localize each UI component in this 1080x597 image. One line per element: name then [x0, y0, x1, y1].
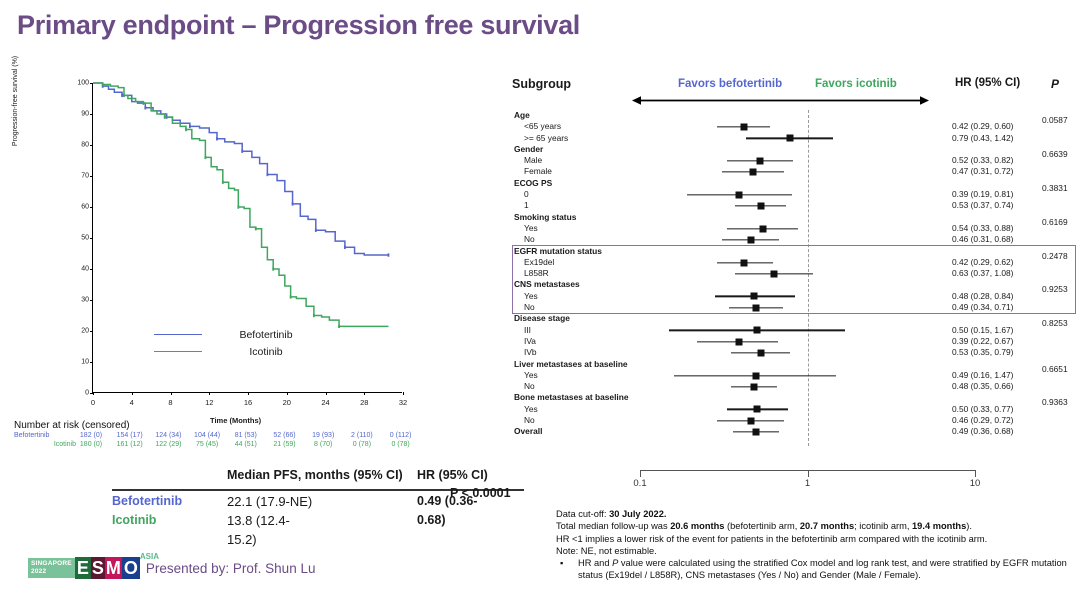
- footnote-line-2: Total median follow-up was 20.6 months (…: [556, 520, 1076, 532]
- censor-mark: [241, 150, 243, 153]
- km-y-tickmark: [90, 176, 93, 177]
- censor-mark: [204, 156, 206, 159]
- forest-header-subgroup: Subgroup: [512, 77, 571, 91]
- forest-header-p: P: [1051, 77, 1059, 91]
- censor-mark: [164, 115, 166, 118]
- forest-row-label: Yes: [524, 404, 538, 415]
- page-title: Primary endpoint – Progression free surv…: [17, 10, 580, 41]
- forest-row-hr: 0.48 (0.35, 0.66): [952, 381, 1013, 392]
- forest-axis-cap: [640, 470, 641, 477]
- forest-row-hr: 0.42 (0.29, 0.62): [952, 257, 1013, 268]
- pfs-header-median: Median PFS, months (95% CI): [227, 468, 403, 482]
- forest-row-label: No: [524, 415, 535, 426]
- censor-mark: [255, 227, 257, 230]
- esmo-logo-s: S: [91, 557, 105, 579]
- risk-table-rows: Befotertinib182 (0)154 (17)124 (34)104 (…: [14, 432, 514, 450]
- legend-label: Befotertinib: [212, 329, 320, 341]
- forest-row: >= 65 years0.79 (0.43, 1.42): [512, 133, 1078, 144]
- pfs-table-row: 15.2): [112, 532, 524, 551]
- forest-row: Ex19del0.42 (0.29, 0.62): [512, 257, 1078, 268]
- forest-row: No0.46 (0.29, 0.72): [512, 415, 1078, 426]
- forest-row: Yes0.48 (0.28, 0.84): [512, 291, 1078, 302]
- forest-row: III0.50 (0.15, 1.67): [512, 325, 1078, 336]
- forest-row: Overall0.49 (0.36, 0.68): [512, 426, 1078, 437]
- fnb-b: value were calculated using the stratifi…: [578, 558, 1067, 580]
- esmo-logo-asia: ASIA: [140, 552, 159, 561]
- footnote-datacutoff-label: Data cut-off:: [556, 509, 606, 519]
- censor-mark: [216, 137, 218, 140]
- censor-mark: [121, 94, 123, 97]
- forest-row: ECOG PS0.3831: [512, 178, 1078, 189]
- forest-row: IVb0.53 (0.35, 0.79): [512, 347, 1078, 358]
- forest-row-hr: 0.52 (0.33, 0.82): [952, 155, 1013, 166]
- footnote-datacutoff-value: 30 July 2022.: [609, 509, 666, 519]
- km-x-tickmark: [209, 392, 210, 395]
- forest-row-label: Male: [524, 155, 542, 166]
- km-y-tickmark: [90, 145, 93, 146]
- forest-header-hr: HR (95% CI): [955, 77, 1020, 89]
- censor-mark: [266, 173, 268, 176]
- forest-row: Smoking status0.6169: [512, 212, 1078, 223]
- footnote-line-1: Data cut-off: 30 July 2022.: [556, 508, 1076, 520]
- censor-mark: [313, 314, 315, 317]
- forest-favors-befotertinib: Favors befotertinib: [678, 78, 782, 90]
- double-arrow-icon: [632, 96, 929, 105]
- forest-row-label: CNS metastases: [514, 279, 580, 290]
- forest-row-hr: 0.47 (0.31, 0.72): [952, 166, 1013, 177]
- forest-row: Liver metastases at baseline0.6651: [512, 359, 1078, 370]
- risk-row-arm: Icotinib: [14, 441, 76, 448]
- pfs-p-value: P < 0.0001: [450, 486, 511, 500]
- forest-row: EGFR mutation status0.2478: [512, 246, 1078, 257]
- median-pfs-table: Median PFS, months (95% CI) HR (95% CI) …: [112, 468, 524, 551]
- forest-row-label: Yes: [524, 291, 538, 302]
- censor-mark: [290, 295, 292, 298]
- footnote-bullet: ▪HR and P value were calculated using th…: [556, 557, 1076, 582]
- forest-row: Gender0.6639: [512, 144, 1078, 155]
- forest-row: Age0.0587: [512, 110, 1078, 121]
- km-x-tickmark: [171, 392, 172, 395]
- forest-row-hr: 0.53 (0.37, 0.74): [952, 200, 1013, 211]
- forest-row-label: 0: [524, 189, 529, 200]
- forest-row: 00.39 (0.19, 0.81): [512, 189, 1078, 200]
- forest-axis: 0.1110: [512, 462, 1078, 492]
- risk-row-arm: Befotertinib: [14, 432, 76, 439]
- forest-favors-icotinib: Favors icotinib: [815, 78, 897, 90]
- forest-row-label: L858R: [524, 268, 549, 279]
- forest-rows: Age0.0587<65 years0.42 (0.29, 0.60)>= 65…: [512, 110, 1078, 438]
- censor-mark: [189, 125, 191, 128]
- forest-row-label: IVb: [524, 347, 537, 358]
- fn2g: ).: [966, 521, 972, 531]
- esmo-logo-o: O: [122, 557, 140, 579]
- forest-row-label: Smoking status: [514, 212, 576, 223]
- forest-row-label: No: [524, 302, 535, 313]
- km-x-tickmark: [364, 392, 365, 395]
- forest-row-hr: 0.49 (0.36, 0.68): [952, 426, 1013, 437]
- forest-row-hr: 0.42 (0.29, 0.60): [952, 121, 1013, 132]
- km-y-tickmark: [90, 362, 93, 363]
- km-y-tickmark: [90, 83, 93, 84]
- forest-row-label: Liver metastases at baseline: [514, 359, 628, 370]
- forest-row-label: EGFR mutation status: [514, 246, 602, 257]
- forest-row-label: <65 years: [524, 121, 561, 132]
- km-y-tickmark: [90, 238, 93, 239]
- esmo-logo-e: E: [75, 557, 91, 579]
- presented-by: Presented by: Prof. Shun Lu: [146, 561, 316, 576]
- footnotes: Data cut-off: 30 July 2022. Total median…: [556, 508, 1076, 582]
- forest-row: <65 years0.42 (0.29, 0.60): [512, 121, 1078, 132]
- km-x-tickmark: [326, 392, 327, 395]
- forest-row-label: No: [524, 381, 535, 392]
- forest-row-label: No: [524, 234, 535, 245]
- forest-row-hr: 0.50 (0.15, 1.67): [952, 325, 1013, 336]
- forest-row-label: Gender: [514, 144, 543, 155]
- forest-row-hr: 0.46 (0.29, 0.72): [952, 415, 1013, 426]
- censor-mark: [222, 181, 224, 184]
- censor-mark: [142, 101, 144, 104]
- km-x-tickmark: [287, 392, 288, 395]
- risk-table-row: Icotinib180 (0)161 (12)122 (29)75 (45)44…: [14, 441, 514, 450]
- forest-row-hr: 0.46 (0.31, 0.68): [952, 234, 1013, 245]
- pfs-row-median: 13.8 (12.4-: [227, 513, 290, 528]
- forest-row-hr: 0.39 (0.22, 0.67): [952, 336, 1013, 347]
- esmo-logo: E S M O ASIA: [75, 557, 140, 579]
- forest-row-hr: 0.50 (0.33, 0.77): [952, 404, 1013, 415]
- km-x-tickmark: [93, 392, 94, 395]
- legend-swatch-befotertinib: [154, 334, 202, 336]
- fn2b: 20.6 months: [670, 521, 724, 531]
- censor-mark: [315, 229, 317, 232]
- km-y-axis-label: Progression-free survival (%): [12, 16, 19, 186]
- forest-row-hr: 0.79 (0.43, 1.42): [952, 133, 1013, 144]
- km-chart: Progression-free survival (%) 0102030405…: [14, 68, 434, 418]
- fnb-a: HR and: [578, 558, 612, 568]
- risk-table-title: Number at risk (censored): [14, 420, 514, 431]
- forest-axis-tick: 0.1: [633, 478, 646, 489]
- pfs-header-hr: HR (95% CI): [417, 468, 488, 482]
- forest-row-label: ECOG PS: [514, 178, 552, 189]
- esmo-logo-m: M: [105, 557, 122, 579]
- forest-row: No0.49 (0.34, 0.71): [512, 302, 1078, 313]
- pfs-row-arm: Icotinib: [112, 513, 156, 527]
- censor-mark: [123, 94, 125, 97]
- bullet-icon: ▪: [560, 557, 563, 569]
- km-legend: Befotertinib Icotinib: [154, 326, 320, 360]
- km-y-tickmark: [90, 300, 93, 301]
- congress-year: 2022: [31, 568, 72, 576]
- forest-row: Yes0.49 (0.16, 1.47): [512, 370, 1078, 381]
- censor-mark: [144, 106, 146, 109]
- fn2e: ; icotinib arm,: [854, 521, 912, 531]
- censor-mark: [344, 246, 346, 249]
- legend-item: Befotertinib: [154, 326, 320, 343]
- km-x-tickmark: [248, 392, 249, 395]
- km-curve-befotertinib: [93, 83, 388, 255]
- forest-row-label: Age: [514, 110, 530, 121]
- forest-row-label: Ex19del: [524, 257, 554, 268]
- pfs-row-arm: Befotertinib: [112, 494, 182, 508]
- forest-row: Disease stage0.8253: [512, 313, 1078, 324]
- fn2a: Total median follow-up was: [556, 521, 670, 531]
- censor-mark: [237, 205, 239, 208]
- forest-row-hr: 0.39 (0.19, 0.81): [952, 189, 1013, 200]
- km-y-tickmark: [90, 331, 93, 332]
- censor-mark: [102, 83, 104, 86]
- forest-row-hr: 0.53 (0.35, 0.79): [952, 347, 1013, 358]
- censor-mark: [185, 128, 187, 131]
- pfs-row-median: 22.1 (17.9-NE): [227, 494, 312, 509]
- forest-row: Female0.47 (0.31, 0.72): [512, 166, 1078, 177]
- censor-mark: [292, 202, 294, 205]
- number-at-risk-table: Number at risk (censored) Befotertinib18…: [14, 420, 514, 450]
- congress-city: SINGAPORE: [31, 560, 72, 568]
- forest-row: L858R0.63 (0.37, 1.08): [512, 268, 1078, 279]
- forest-row-label: Yes: [524, 223, 538, 234]
- forest-row-label: Female: [524, 166, 552, 177]
- forest-row-label: Yes: [524, 370, 538, 381]
- forest-row: No0.48 (0.35, 0.66): [512, 381, 1078, 392]
- fn2c: (befotertinib arm,: [724, 521, 799, 531]
- forest-row-hr: 0.49 (0.16, 1.47): [952, 370, 1013, 381]
- forest-row: Yes0.54 (0.33, 0.88): [512, 223, 1078, 234]
- forest-row-label: III: [524, 325, 531, 336]
- forest-axis-cap: [808, 470, 809, 477]
- km-y-tickmark: [90, 114, 93, 115]
- pfs-table-row: Icotinib13.8 (12.4-0.68): [112, 513, 524, 532]
- censor-mark: [272, 267, 274, 270]
- forest-row-label: Disease stage: [514, 313, 570, 324]
- forest-header: Subgroup Favors befotertinib Favors icot…: [512, 72, 1078, 106]
- censor-mark: [338, 325, 340, 328]
- pfs-table-header: Median PFS, months (95% CI) HR (95% CI): [112, 468, 524, 488]
- forest-row-hr: 0.49 (0.34, 0.71): [952, 302, 1013, 313]
- congress-badge: SINGAPORE 2022: [28, 558, 75, 578]
- km-curve-icotinib: [93, 83, 388, 326]
- legend-swatch-icotinib: [154, 351, 202, 353]
- forest-row-label: Bone metastases at baseline: [514, 392, 629, 403]
- km-y-tickmark: [90, 269, 93, 270]
- esmo-footer: SINGAPORE 2022 E S M O ASIA Presented by…: [28, 557, 315, 579]
- legend-item: Icotinib: [154, 343, 320, 360]
- forest-row-label: IVa: [524, 336, 536, 347]
- forest-axis-tick: 10: [970, 478, 981, 489]
- pfs-row-median: 15.2): [227, 532, 257, 547]
- forest-plot: Subgroup Favors befotertinib Favors icot…: [512, 72, 1078, 492]
- forest-row-hr: 0.63 (0.37, 1.08): [952, 268, 1013, 279]
- forest-row-hr: 0.54 (0.33, 0.88): [952, 223, 1013, 234]
- forest-row: No0.46 (0.31, 0.68): [512, 234, 1078, 245]
- footnote-line-4: Note: NE, not estimable.: [556, 545, 1076, 557]
- fn2d: 20.7 months: [800, 521, 854, 531]
- forest-row-hr: 0.48 (0.28, 0.84): [952, 291, 1013, 302]
- slide-root: Primary endpoint – Progression free surv…: [0, 0, 1080, 597]
- forest-axis-tick: 1: [805, 478, 810, 489]
- risk-cell: 0 (78): [378, 441, 424, 448]
- forest-row: Bone metastases at baseline0.9363: [512, 392, 1078, 403]
- legend-label: Icotinib: [212, 346, 320, 358]
- forest-row-label: Overall: [514, 426, 542, 437]
- pfs-table-body: Befotertinib22.1 (17.9-NE)0.49 (0.36-Ico…: [112, 494, 524, 551]
- forest-row-label: >= 65 years: [524, 133, 568, 144]
- forest-row: Male0.52 (0.33, 0.82): [512, 155, 1078, 166]
- forest-row: IVa0.39 (0.22, 0.67): [512, 336, 1078, 347]
- forest-row: CNS metastases0.9253: [512, 279, 1078, 290]
- risk-cell: 0 (112): [378, 432, 424, 439]
- fn2f: 19.4 months: [912, 521, 966, 531]
- km-x-tickmark: [403, 392, 404, 395]
- km-y-tickmark: [90, 207, 93, 208]
- risk-table-row: Befotertinib182 (0)154 (17)124 (34)104 (…: [14, 432, 514, 441]
- forest-row: 10.53 (0.37, 0.74): [512, 200, 1078, 211]
- censor-mark: [388, 253, 390, 256]
- forest-row-label: 1: [524, 200, 529, 211]
- forest-axis-cap: [975, 470, 976, 477]
- km-x-tickmark: [132, 392, 133, 395]
- footnote-line-3: HR <1 implies a lower risk of the event …: [556, 533, 1076, 545]
- pfs-row-hr: 0.68): [417, 513, 446, 527]
- forest-row: Yes0.50 (0.33, 0.77): [512, 404, 1078, 415]
